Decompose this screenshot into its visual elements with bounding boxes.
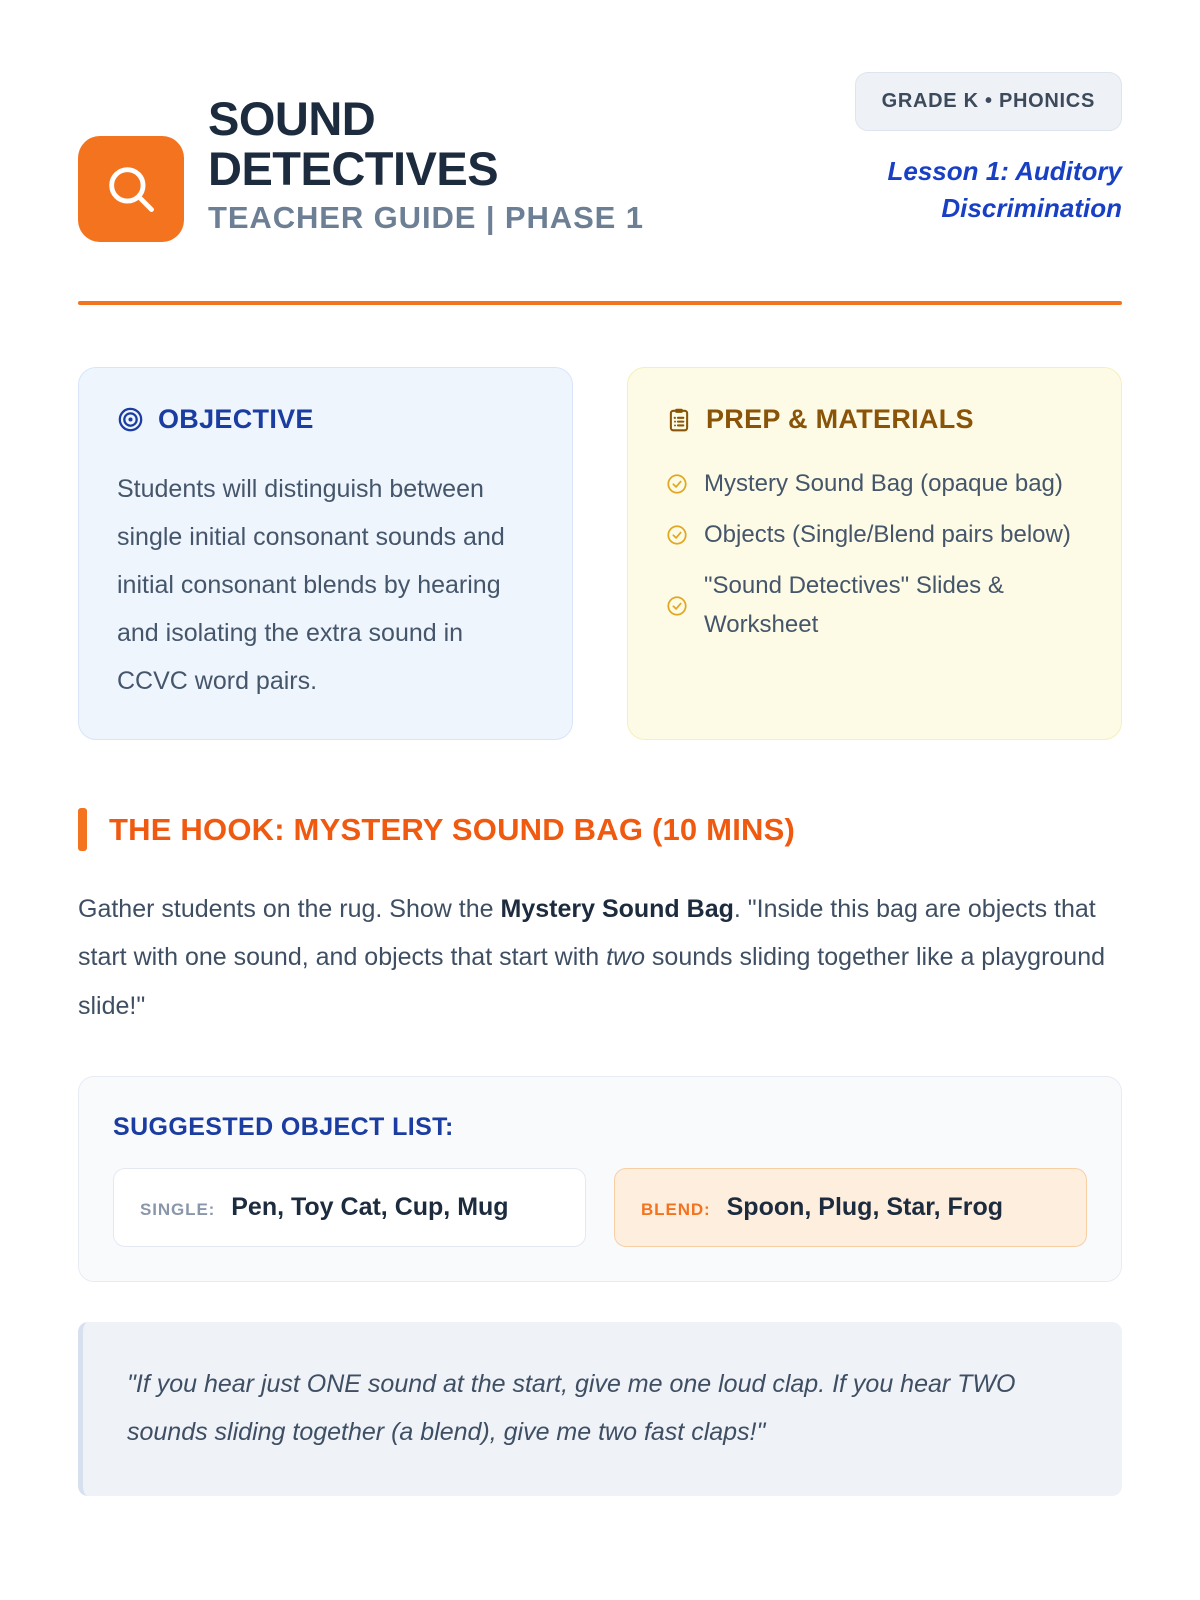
list-item: "Sound Detectives" Slides & Worksheet (666, 567, 1087, 645)
page-title: SOUND DETECTIVES (208, 94, 628, 194)
info-cards-row: OBJECTIVE Students will distinguish betw… (78, 367, 1122, 740)
check-circle-icon (666, 524, 688, 546)
clipboard-icon (666, 407, 692, 433)
header-meta: GRADE K • PHONICS Lesson 1: Auditory Dis… (722, 68, 1122, 227)
hook-section-header: THE HOOK: MYSTERY SOUND BAG (10 MINS) (78, 808, 1122, 851)
check-circle-icon (666, 595, 688, 617)
objective-card-body: Students will distinguish between single… (117, 465, 538, 705)
blend-objects-chip: BLEND: Spoon, Plug, Star, Frog (614, 1168, 1087, 1247)
prep-card-title: PREP & MATERIALS (706, 404, 974, 435)
teacher-guide-page: SOUND DETECTIVES TEACHER GUIDE | PHASE 1… (0, 0, 1200, 1600)
check-circle-icon (666, 473, 688, 495)
prep-card-header: PREP & MATERIALS (666, 404, 1087, 435)
objective-card-header: OBJECTIVE (117, 404, 538, 435)
object-chips-row: SINGLE: Pen, Toy Cat, Cup, Mug BLEND: Sp… (113, 1168, 1087, 1247)
list-item: Mystery Sound Bag (opaque bag) (666, 465, 1087, 504)
hook-paragraph-bold: Mystery Sound Bag (501, 895, 734, 923)
list-item: Objects (Single/Blend pairs below) (666, 516, 1087, 555)
teacher-script-quote: "If you hear just ONE sound at the start… (78, 1322, 1122, 1496)
hook-section-title: THE HOOK: MYSTERY SOUND BAG (10 MINS) (109, 812, 795, 848)
prep-item-label: Objects (Single/Blend pairs below) (704, 516, 1071, 555)
grade-badge: GRADE K • PHONICS (855, 72, 1122, 131)
page-subtitle: TEACHER GUIDE | PHASE 1 (208, 198, 644, 238)
single-chip-label: SINGLE: (140, 1200, 215, 1220)
prep-materials-list: Mystery Sound Bag (opaque bag) Objects (… (666, 465, 1087, 645)
prep-item-label: "Sound Detectives" Slides & Worksheet (704, 567, 1087, 645)
section-accent-bar (78, 808, 87, 851)
prep-materials-card: PREP & MATERIALS Mystery Sound Bag (opaq… (627, 367, 1122, 740)
hook-paragraph-part1: Gather students on the rug. Show the (78, 895, 501, 923)
lesson-label: Lesson 1: Auditory Discrimination (822, 153, 1122, 227)
header-divider (78, 301, 1122, 305)
blend-chip-label: BLEND: (641, 1200, 711, 1220)
objective-card-title: OBJECTIVE (158, 404, 314, 435)
object-list-title: SUGGESTED OBJECT LIST: (113, 1113, 1087, 1142)
prep-item-label: Mystery Sound Bag (opaque bag) (704, 465, 1063, 504)
single-objects-chip: SINGLE: Pen, Toy Cat, Cup, Mug (113, 1168, 586, 1247)
hook-paragraph: Gather students on the rug. Show the Mys… (78, 885, 1122, 1030)
target-icon (117, 406, 144, 433)
blend-chip-value: Spoon, Plug, Star, Frog (727, 1193, 1003, 1222)
brand-text: SOUND DETECTIVES TEACHER GUIDE | PHASE 1 (208, 78, 644, 237)
page-header: SOUND DETECTIVES TEACHER GUIDE | PHASE 1… (78, 68, 1122, 242)
magnifier-icon (78, 136, 184, 242)
suggested-object-list-box: SUGGESTED OBJECT LIST: SINGLE: Pen, Toy … (78, 1076, 1122, 1282)
objective-card: OBJECTIVE Students will distinguish betw… (78, 367, 573, 740)
brand-block: SOUND DETECTIVES TEACHER GUIDE | PHASE 1 (78, 68, 678, 242)
single-chip-value: Pen, Toy Cat, Cup, Mug (231, 1193, 508, 1222)
hook-paragraph-italic: two (606, 943, 645, 971)
